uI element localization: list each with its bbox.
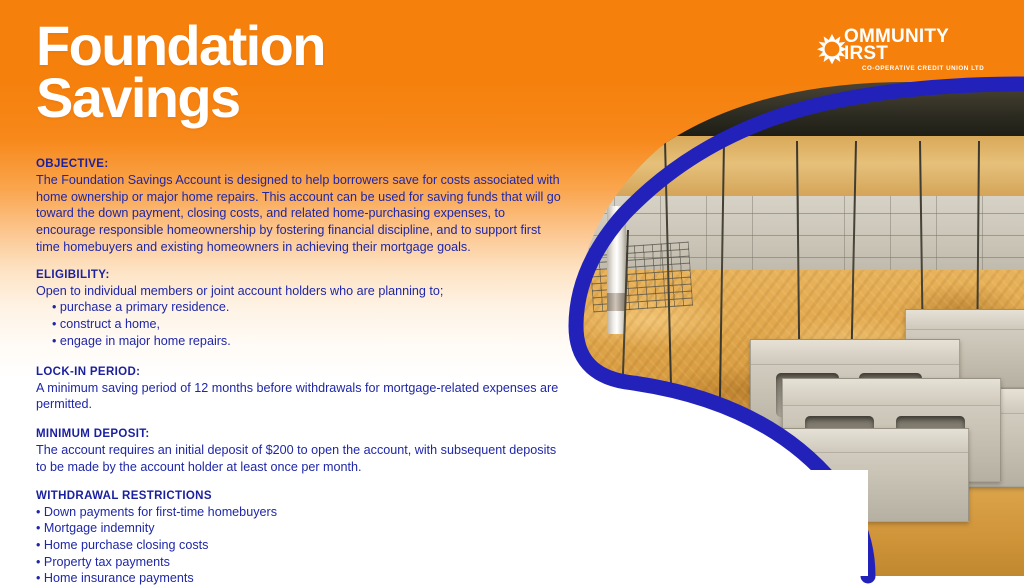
list-item: Property tax payments [36,554,566,571]
brand-wordmark: OMMUNITY IRST CO-OPERATIVE CREDIT UNION … [844,28,994,72]
section-heading-minimum-deposit: MINIMUM DEPOSIT: [36,428,566,440]
list-item: Down payments for first-time homebuyers [36,504,566,521]
section-heading-eligibility: ELIGIBILITY: [36,269,566,281]
list-item: purchase a primary residence. [36,299,566,316]
brand-name-line2: IRST [844,45,994,62]
list-item: engage in major home repairs. [36,333,566,350]
brand-logo: OMMUNITY IRST CO-OPERATIVE CREDIT UNION … [812,26,992,78]
section-heading-lock-in: LOCK-IN PERIOD: [36,366,566,378]
list-item: Home insurance payments [36,570,566,587]
photo-wire-mesh [589,242,694,313]
list-item: construct a home, [36,316,566,333]
photo-bottom-whitespace [568,470,868,576]
section-objective: OBJECTIVE: The Foundation Savings Accoun… [36,158,566,256]
content-column: OBJECTIVE: The Foundation Savings Accoun… [36,158,566,587]
section-body-minimum-deposit: The account requires an initial deposit … [36,442,566,475]
eligibility-list: purchase a primary residence. construct … [36,299,566,349]
section-heading-withdrawal: WITHDRAWAL RESTRICTIONS [36,490,566,502]
section-body-eligibility: Open to individual members or joint acco… [36,283,566,300]
list-item: Home purchase closing costs [36,537,566,554]
section-body-lock-in: A minimum saving period of 12 months bef… [36,380,566,413]
withdrawal-list: Down payments for first-time homebuyers … [36,504,566,587]
section-heading-objective: OBJECTIVE: [36,158,566,170]
brand-tagline: CO-OPERATIVE CREDIT UNION LTD [862,65,994,72]
section-eligibility: ELIGIBILITY: Open to individual members … [36,269,566,350]
page-title-line2: Savings [36,72,596,124]
section-body-objective: The Foundation Savings Account is design… [36,172,566,256]
page-title: Foundation Savings [36,20,596,123]
section-minimum-deposit: MINIMUM DEPOSIT: The account requires an… [36,428,566,475]
section-lock-in-period: LOCK-IN PERIOD: A minimum saving period … [36,366,566,413]
list-item: Mortgage indemnity [36,520,566,537]
section-withdrawal-restrictions: WITHDRAWAL RESTRICTIONS Down payments fo… [36,490,566,587]
